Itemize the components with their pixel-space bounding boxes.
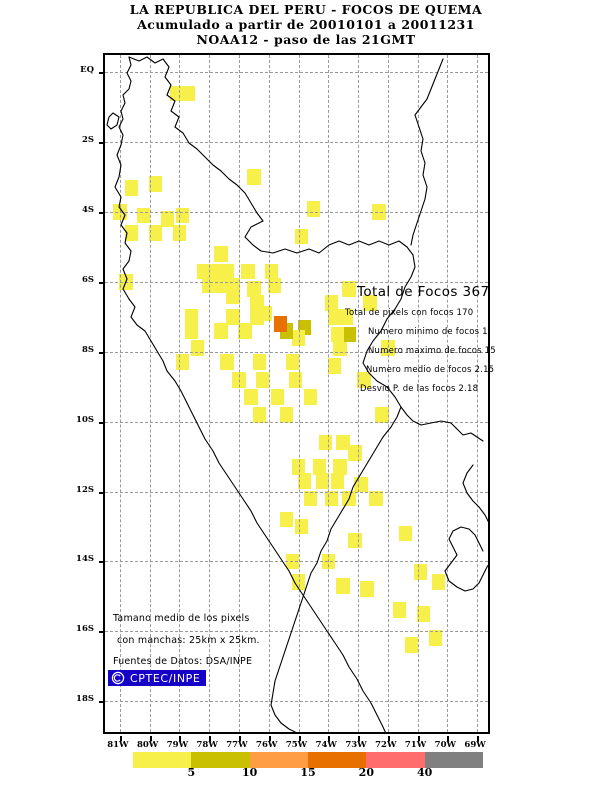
y-axis-tick <box>99 352 105 354</box>
x-axis-label: 75W <box>286 740 307 750</box>
y-axis-label: 4S <box>60 205 94 215</box>
y-axis-tick <box>99 142 105 144</box>
colorbar-tick-label: 15 <box>300 766 315 779</box>
x-axis-label: 76W <box>256 740 277 750</box>
y-axis-tick <box>99 72 105 74</box>
y-axis-tick <box>99 701 105 703</box>
x-axis-label: 74W <box>316 740 337 750</box>
logo-label: CPTEC/INPE <box>130 672 200 685</box>
copyright-icon <box>111 671 125 685</box>
colorbar-segment[interactable] <box>425 752 483 768</box>
stats-line-medio: Numero medio de focos 2.15 <box>366 365 494 375</box>
x-axis-label: 77W <box>226 740 247 750</box>
stats-title: Total de Focos 367 <box>357 284 490 300</box>
colorbar-segment[interactable] <box>366 752 424 768</box>
y-axis-label: 2S <box>60 135 94 145</box>
note-line-2: con manchas: 25km x 25km. <box>117 635 260 646</box>
y-axis-label: 12S <box>60 485 94 495</box>
y-axis-label: 6S <box>60 275 94 285</box>
y-axis-tick <box>99 631 105 633</box>
x-axis-label: 71W <box>405 740 426 750</box>
stats-line-total-pixels: Total de pixels con focos 170 <box>345 308 473 318</box>
y-axis-tick <box>99 282 105 284</box>
y-axis-label: 16S <box>60 624 94 634</box>
y-axis-label: 18S <box>60 694 94 704</box>
y-axis-label: 8S <box>60 345 94 355</box>
y-axis-tick <box>99 422 105 424</box>
title-block: LA REPUBLICA DEL PERU - FOCOS DE QUEMA A… <box>0 2 612 47</box>
stats-line-minimo: Numero minimo de focos 1 <box>368 327 488 337</box>
colorbar-tick-label: 10 <box>242 766 257 779</box>
title-line-3: NOAA12 - paso de las 21GMT <box>0 32 612 47</box>
y-axis-label: EQ <box>60 65 94 75</box>
colorbar-tick-label: 20 <box>359 766 374 779</box>
y-axis-tick <box>99 561 105 563</box>
x-axis-label: 78W <box>197 740 218 750</box>
colorbar-segment[interactable] <box>308 752 366 768</box>
note-line-3: Fuentes de Datos: DSA/INPE <box>113 656 252 667</box>
x-axis-label: 80W <box>137 740 158 750</box>
x-axis-label: 72W <box>375 740 396 750</box>
y-axis-label: 14S <box>60 554 94 564</box>
cptec-inpe-logo-badge[interactable]: CPTEC/INPE <box>108 670 206 686</box>
title-line-2: Acumulado a partir de 20010101 a 2001123… <box>0 17 612 32</box>
figure-root: LA REPUBLICA DEL PERU - FOCOS DE QUEMA A… <box>0 0 612 792</box>
note-line-1: Tamano medio de los pixels <box>113 613 250 624</box>
colorbar-segment[interactable] <box>191 752 249 768</box>
colorbar-tick-label: 40 <box>417 766 432 779</box>
x-axis-label: 79W <box>167 740 188 750</box>
y-axis-tick <box>99 212 105 214</box>
colorbar-segment[interactable] <box>133 752 191 768</box>
y-axis-label: 10S <box>60 415 94 425</box>
colorbar-tick-label: 5 <box>188 766 196 779</box>
x-axis-label: 70W <box>435 740 456 750</box>
y-axis-tick <box>99 492 105 494</box>
x-axis-label: 73W <box>345 740 366 750</box>
x-axis-label: 69W <box>464 740 485 750</box>
stats-line-maximo: Numero maximo de focos 15 <box>368 346 496 356</box>
colorbar-segment[interactable] <box>250 752 308 768</box>
stats-line-desvio: Desvio P. de las focos 2.18 <box>360 384 478 394</box>
x-axis-label: 81W <box>107 740 128 750</box>
title-line-1: LA REPUBLICA DEL PERU - FOCOS DE QUEMA <box>0 2 612 17</box>
